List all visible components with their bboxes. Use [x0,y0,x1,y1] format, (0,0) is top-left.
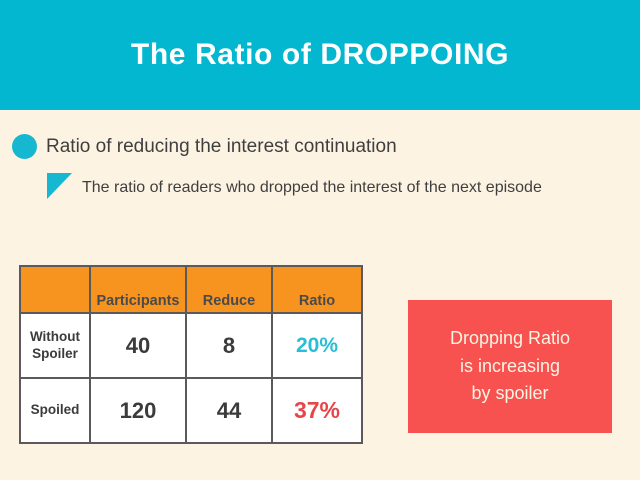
table-row: Spoiled 120 44 37% [20,378,362,443]
table-header-row: Participants Reduce Ratio [20,266,362,313]
row-label-spoiled: Spoiled [20,378,90,443]
table-header-corner [20,266,90,313]
table-header: Participants Reduce Ratio [20,266,362,313]
bullet-level-1: Ratio of reducing the interest continuat… [12,134,397,159]
table-header-ratio: Ratio [272,266,362,313]
row-label-without-spoiler: Without Spoiler [20,313,90,378]
cell-spoiled-participants: 120 [90,378,186,443]
bullet-level-2: The ratio of readers who dropped the int… [47,172,607,203]
slide-canvas: The Ratio of DROPPOING Ratio of reducing… [0,0,640,480]
cell-without-spoiler-reduce: 8 [186,313,272,378]
slide-title: The Ratio of DROPPOING [0,0,640,110]
ratio-table: Participants Reduce Ratio Without Spoile… [19,265,363,444]
table-header-participants: Participants [90,266,186,313]
cell-without-spoiler-participants: 40 [90,313,186,378]
table-row: Without Spoiler 40 8 20% [20,313,362,378]
table-header-reduce: Reduce [186,266,272,313]
cell-spoiled-reduce: 44 [186,378,272,443]
cell-without-spoiler-ratio: 20% [272,313,362,378]
triangle-bullet-icon [47,173,72,199]
cell-spoiled-ratio: 37% [272,378,362,443]
callout-box: Dropping Ratio is increasing by spoiler [408,300,612,433]
circle-bullet-icon [12,134,37,159]
bullet-level-2-label: The ratio of readers who dropped the int… [82,172,542,203]
bullet-level-1-label: Ratio of reducing the interest continuat… [46,137,397,156]
callout-text: Dropping Ratio is increasing by spoiler [450,325,570,409]
table-body: Without Spoiler 40 8 20% Spoiled 120 44 … [20,313,362,443]
